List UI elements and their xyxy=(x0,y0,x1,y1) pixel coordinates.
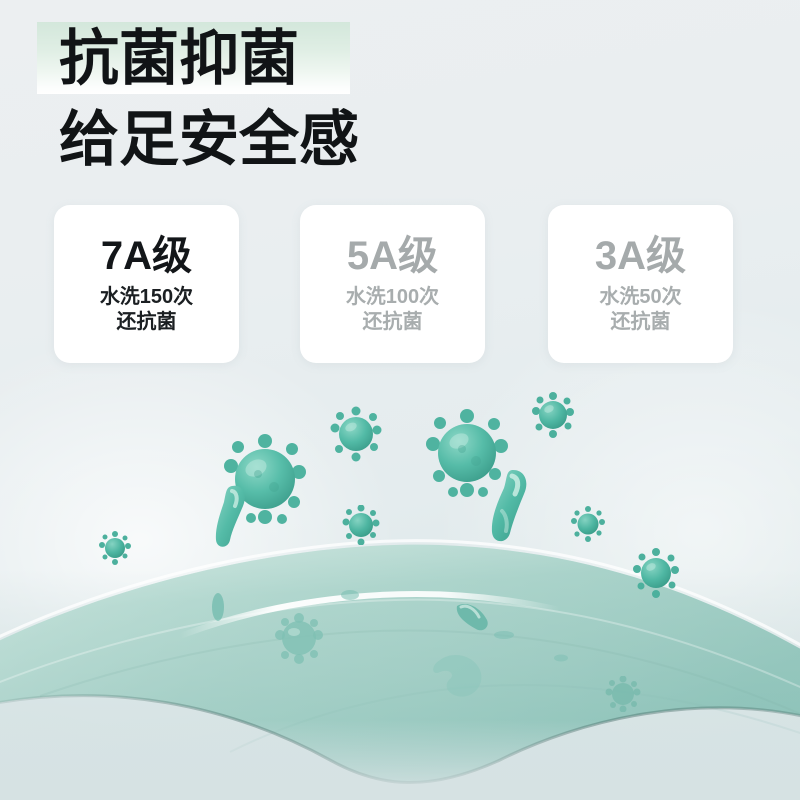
headline-line2: 给足安全感 xyxy=(59,106,359,173)
virus-on-fabric-center xyxy=(268,613,330,670)
grade-card-5a[interactable]: 5A级 水洗100次 还抗菌 xyxy=(300,205,485,363)
grade-sub-line2: 还抗菌 xyxy=(611,310,671,335)
grade-label: 7A级 xyxy=(101,233,192,279)
speck-on-fabric-b xyxy=(493,628,515,646)
grade-label: 5A级 xyxy=(347,233,438,279)
smudge-on-fabric xyxy=(424,648,494,711)
headline-line2-row: 给足安全感 xyxy=(37,106,359,174)
grade-card-3a[interactable]: 3A级 水洗50次 还抗菌 xyxy=(548,205,733,363)
headline-block: 抗菌抑菌 给足安全感 xyxy=(37,22,359,174)
grade-card-7a[interactable]: 7A级 水洗150次 还抗菌 xyxy=(54,205,239,363)
speck-on-fabric-c xyxy=(553,650,569,668)
grade-label: 3A级 xyxy=(595,233,686,279)
virus-small-topright xyxy=(530,392,576,443)
grade-sub-line1: 水洗150次 xyxy=(100,285,193,310)
fabric-bottom-fade xyxy=(0,720,800,800)
grade-sub-line1: 水洗50次 xyxy=(599,285,681,310)
grade-card-row: 7A级 水洗150次 还抗菌 5A级 水洗100次 还抗菌 3A级 水洗50次 … xyxy=(0,205,800,365)
grade-sub-line2: 还抗菌 xyxy=(117,310,177,335)
grade-sub-line1: 水洗100次 xyxy=(346,285,439,310)
virus-small-far-right xyxy=(631,548,681,603)
poster-canvas: 抗菌抑菌 给足安全感 7A级 水洗150次 还抗菌 5A级 水洗100次 还抗菌… xyxy=(0,0,800,800)
virus-on-fabric-right xyxy=(603,676,643,717)
grade-sub-line2: 还抗菌 xyxy=(363,310,423,335)
bacillus-on-fabric xyxy=(447,596,495,641)
headline-line1: 抗菌抑菌 xyxy=(59,25,299,92)
virus-small-left xyxy=(98,531,132,570)
virus-small-mid xyxy=(341,505,381,550)
headline-line1-row: 抗菌抑菌 xyxy=(37,22,311,98)
bacillus-right xyxy=(478,465,544,552)
bacillus-small-on-fabric xyxy=(207,590,229,629)
bacillus-left xyxy=(210,480,262,557)
virus-medium-top xyxy=(328,406,384,467)
virus-small-right xyxy=(570,506,606,547)
speck-on-fabric-a xyxy=(340,588,360,607)
